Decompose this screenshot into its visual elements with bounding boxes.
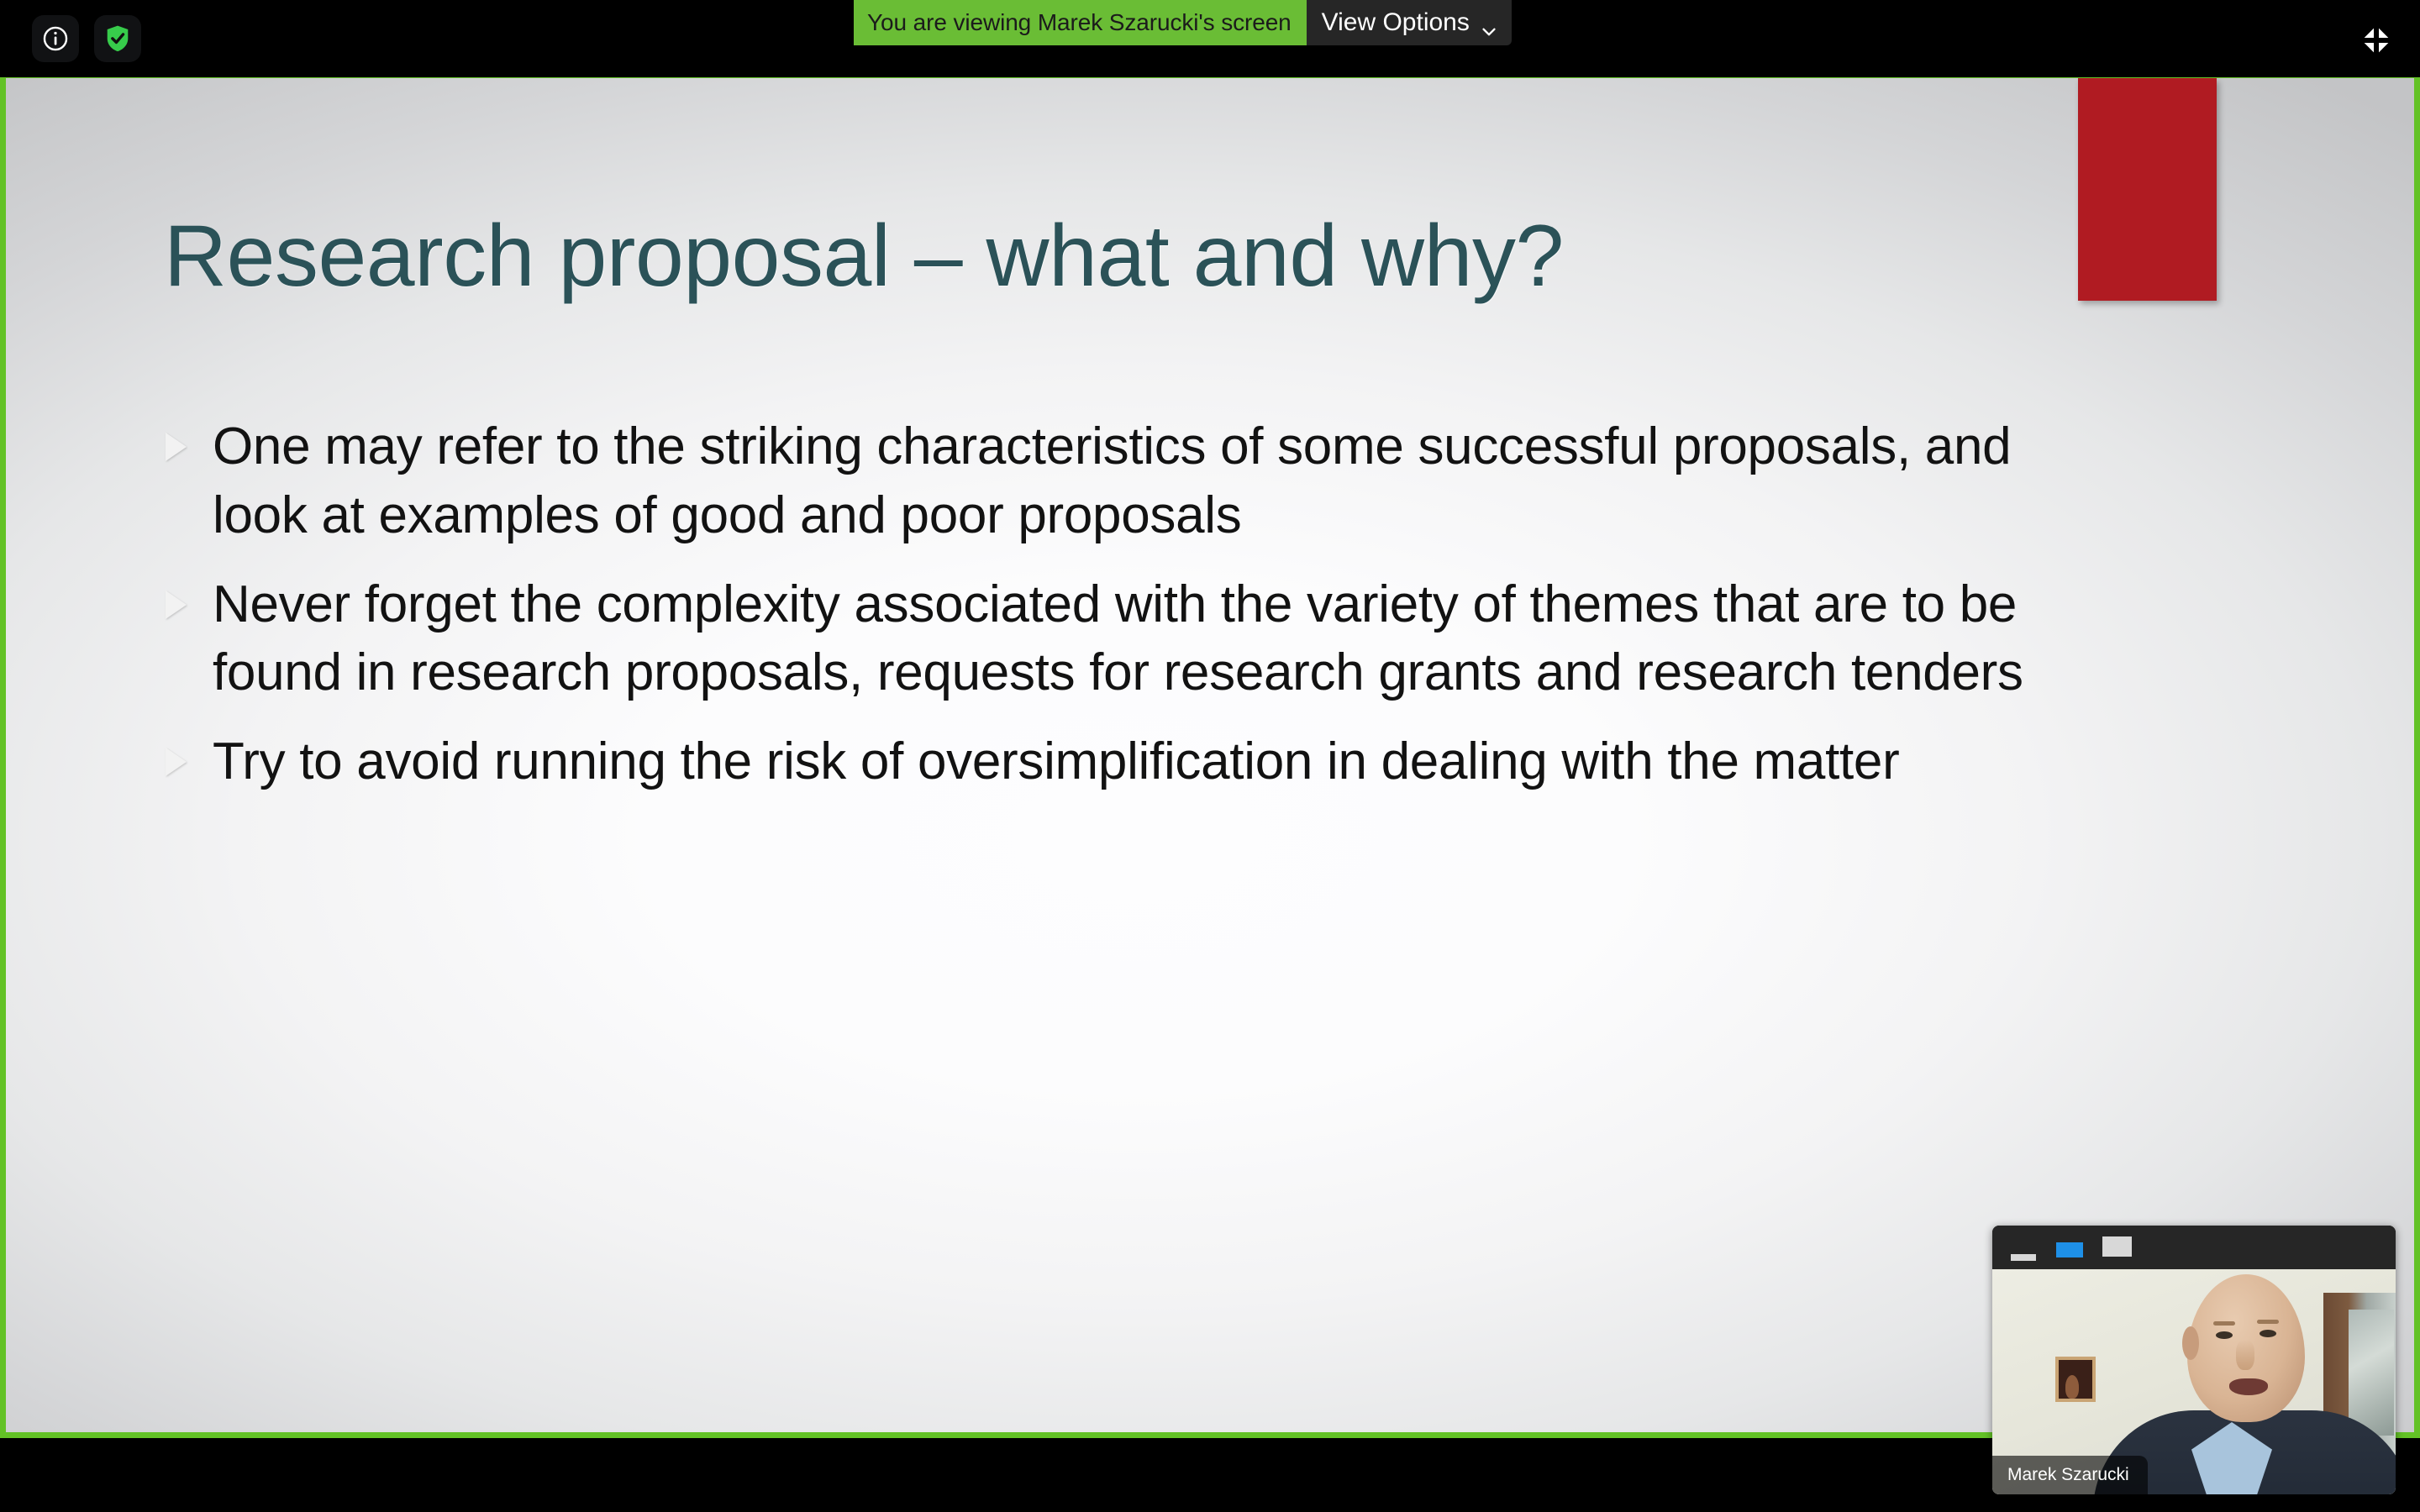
bullet-item: One may refer to the striking characteri… xyxy=(166,412,2115,550)
bullet-triangle-icon xyxy=(166,412,213,461)
view-options-label: View Options xyxy=(1322,0,1470,45)
bullet-text: One may refer to the striking characteri… xyxy=(213,412,2115,550)
info-circle-icon xyxy=(41,24,70,53)
bullet-triangle-icon xyxy=(166,570,213,619)
video-feed: Marek Szarucki xyxy=(1992,1269,2396,1494)
wall-picture xyxy=(2055,1357,2096,1402)
shield-check-icon xyxy=(104,24,131,53)
view-options-button[interactable]: View Options xyxy=(1307,0,1512,45)
slide-bullet-list: One may refer to the striking characteri… xyxy=(166,412,2115,816)
bullet-triangle-icon xyxy=(166,727,213,776)
share-status-text: You are viewing Marek Szarucki's screen xyxy=(854,0,1307,45)
security-button[interactable] xyxy=(94,15,141,62)
bullet-item: Try to avoid running the risk of oversim… xyxy=(166,727,2115,796)
chevron-down-icon xyxy=(1480,11,1498,29)
slide-accent-block xyxy=(2078,78,2217,301)
video-window-titlebar[interactable] xyxy=(1992,1226,2396,1269)
slide-title: Research proposal – what and why? xyxy=(164,211,1564,302)
bullet-text: Never forget the complexity associated w… xyxy=(213,570,2115,708)
eye-right xyxy=(2260,1330,2276,1337)
participant-name-label: Marek Szarucki xyxy=(1992,1456,2148,1494)
eyebrow-right xyxy=(2257,1320,2279,1324)
nose xyxy=(2236,1340,2254,1370)
restore-window-icon[interactable] xyxy=(2102,1236,2132,1257)
mouth xyxy=(2229,1378,2268,1395)
exit-fullscreen-icon xyxy=(2358,24,2395,57)
eyebrow-left xyxy=(2213,1321,2235,1326)
active-window-indicator[interactable] xyxy=(2056,1242,2083,1257)
screen-share-banner: You are viewing Marek Szarucki's screen … xyxy=(854,0,1512,45)
participant-video-thumbnail[interactable]: Marek Szarucki xyxy=(1992,1226,2396,1494)
bullet-item: Never forget the complexity associated w… xyxy=(166,570,2115,708)
minimize-icon[interactable] xyxy=(2011,1254,2036,1261)
eye-left xyxy=(2216,1331,2233,1339)
exit-fullscreen-button[interactable] xyxy=(2358,24,2395,57)
info-button[interactable] xyxy=(32,15,79,62)
bullet-text: Try to avoid running the risk of oversim… xyxy=(213,727,2115,796)
